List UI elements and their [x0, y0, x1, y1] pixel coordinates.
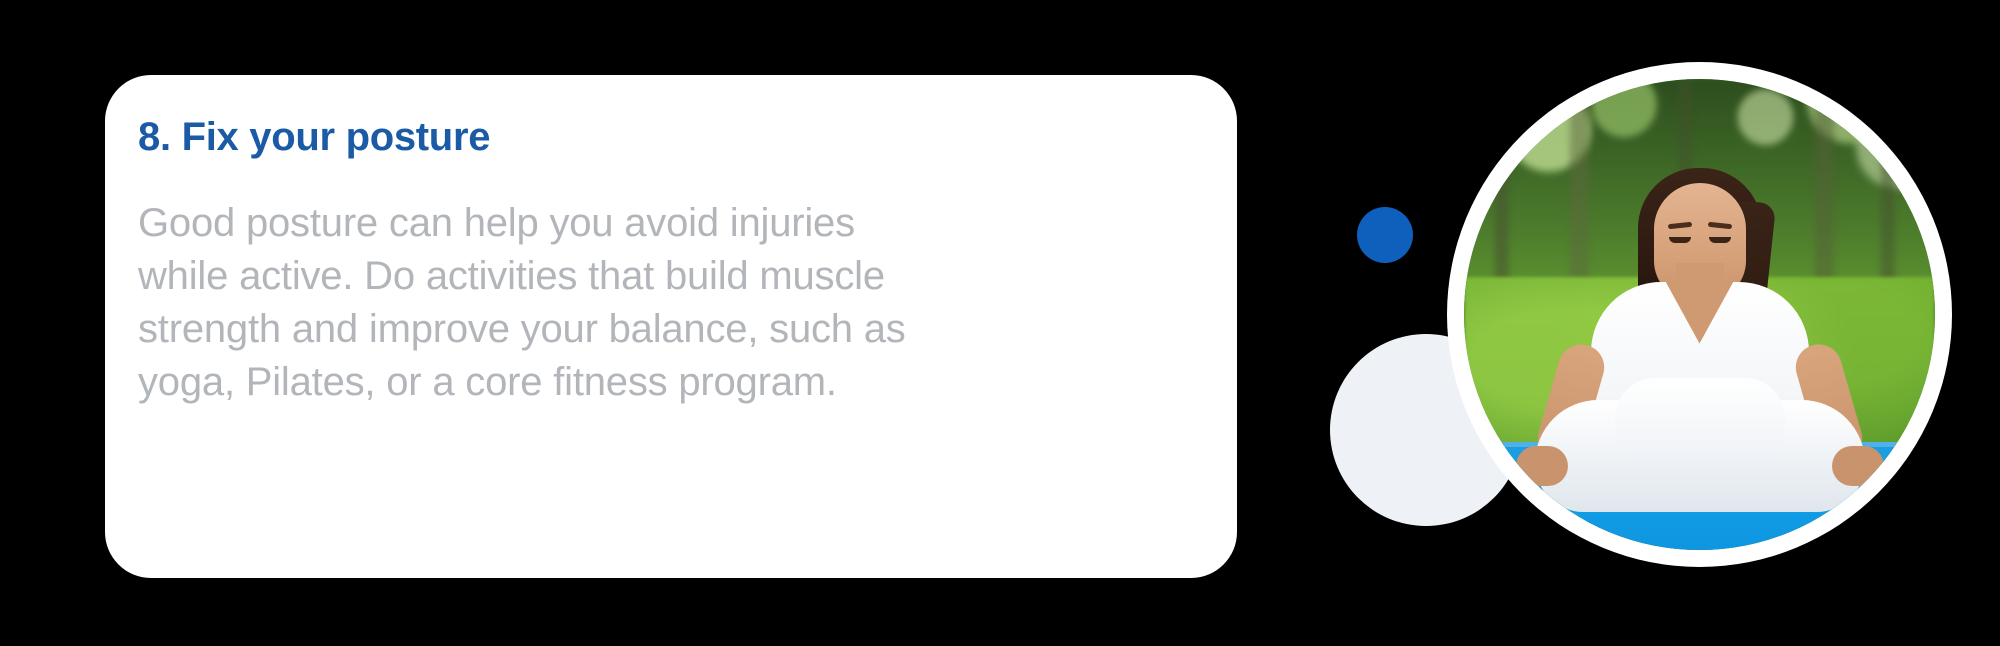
photo-person-hand-right	[1832, 446, 1884, 486]
photo-person-eye-left	[1669, 237, 1691, 243]
yoga-photo-image	[1464, 79, 1935, 550]
page-title: 8. Fix your posture	[138, 115, 490, 160]
yoga-photo-circle	[1447, 62, 1952, 567]
tip-description: Good posture can help you avoid injuries…	[138, 197, 938, 409]
photo-person-eyebrow-left	[1667, 221, 1691, 228]
tip-card: 8. Fix your posture Good posture can hel…	[105, 75, 1237, 578]
photo-person-eye-right	[1709, 237, 1731, 243]
photo-person-vneck	[1666, 282, 1734, 344]
photo-person-eyebrow-right	[1707, 221, 1731, 228]
accent-dot-decoration	[1357, 207, 1413, 263]
photo-person-hand-left	[1516, 446, 1568, 486]
page-canvas: 8. Fix your posture Good posture can hel…	[0, 0, 2000, 646]
photo-person-lap	[1615, 378, 1785, 456]
